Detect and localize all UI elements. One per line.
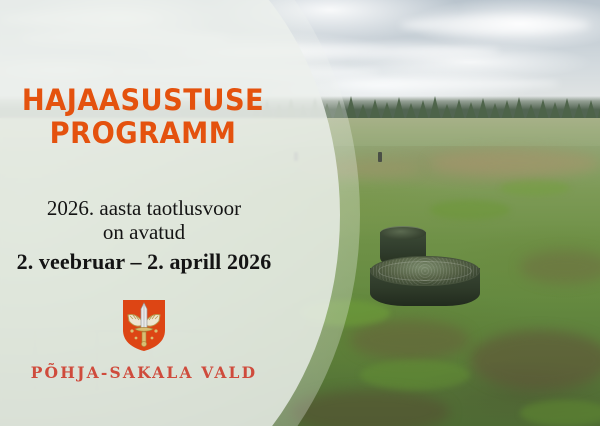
municipality-logo: PÕHJA-SAKALA VALD (0, 298, 288, 382)
poster-content: HAJAASUSTUSE PROGRAMM 2026. aasta taotlu… (0, 0, 300, 426)
soil-patch (350, 320, 470, 360)
title-line-1: HAJAASUSTUSE (7, 84, 280, 117)
soil-patch (430, 150, 600, 176)
poster-subtitle: 2026. aasta taotlusvoor on avatud 2. vee… (0, 196, 288, 275)
grass-tuft (360, 360, 470, 390)
application-date-range: 2. veebruar – 2. aprill 2026 (0, 249, 288, 275)
grass-tuft (520, 400, 600, 426)
title-line-2: PROGRAMM (7, 117, 280, 150)
soil-patch (520, 250, 600, 284)
soil-patch (470, 330, 600, 390)
grass-tuft (500, 180, 570, 196)
poster-title: HAJAASUSTUSE PROGRAMM (0, 84, 288, 150)
poster-canvas: HAJAASUSTUSE PROGRAMM 2026. aasta taotlu… (0, 0, 600, 426)
subtitle-line-1: 2026. aasta taotlusvoor (0, 196, 288, 220)
field-marker-post (378, 152, 382, 162)
coat-of-arms-icon (121, 298, 167, 352)
subtitle-line-2: on avatud (0, 220, 288, 244)
grass-tuft (430, 200, 510, 220)
municipality-name: PÕHJA-SAKALA VALD (0, 363, 288, 382)
